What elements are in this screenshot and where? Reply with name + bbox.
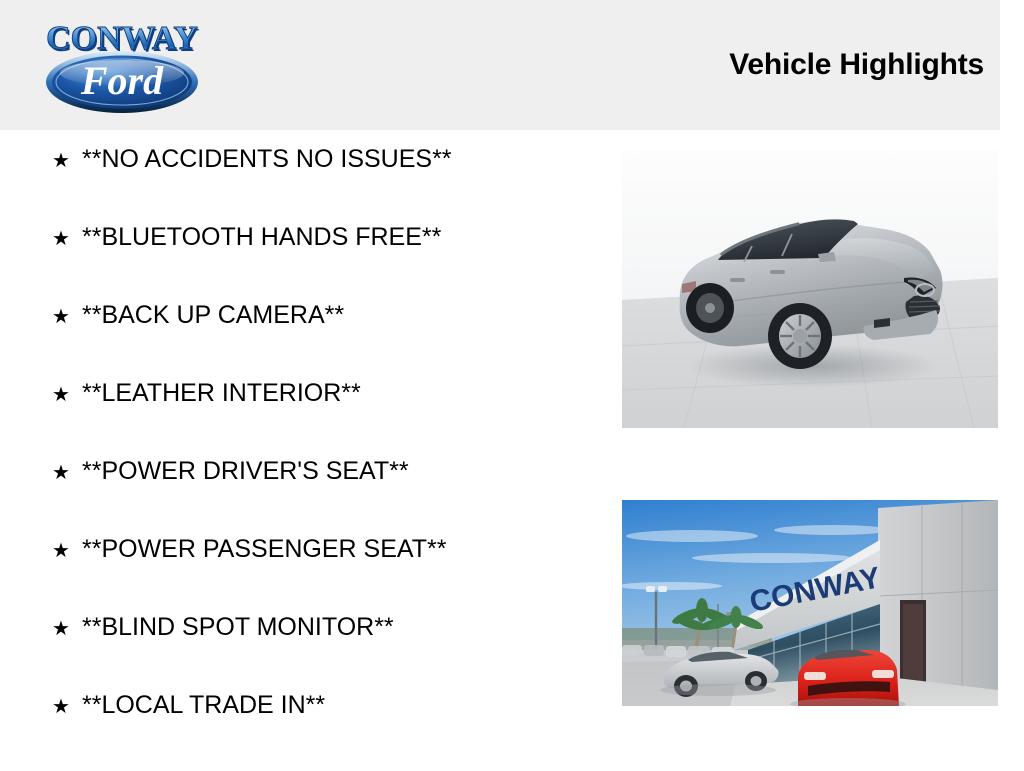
page-header: CONWAY CONWAY Ford Vehicle Highlights [0,0,1000,130]
list-item: ★ **POWER DRIVER'S SEAT** [40,459,600,537]
logo-ford-oval: Ford [46,51,198,113]
list-item-label: **POWER PASSENGER SEAT** [82,537,446,562]
star-icon: ★ [52,541,82,561]
list-item: ★ **BLIND SPOT MONITOR** [40,615,600,693]
star-icon: ★ [52,619,82,639]
list-item: ★ **LOCAL TRADE IN** [40,693,600,771]
list-item-label: **BACK UP CAMERA** [82,303,344,328]
svg-text:Ford: Ford [80,58,164,103]
list-item: ★ **LEATHER INTERIOR** [40,381,600,459]
star-icon: ★ [52,151,82,171]
star-icon: ★ [52,229,82,249]
star-icon: ★ [52,697,82,717]
star-icon: ★ [52,463,82,483]
front-wheel [768,303,832,369]
list-item: ★ **BACK UP CAMERA** [40,303,600,381]
list-item-label: **NO ACCIDENTS NO ISSUES** [82,147,452,172]
rear-wheel [686,283,734,333]
list-item-label: **BLUETOOTH HANDS FREE** [82,225,441,250]
vehicle-photo[interactable] [622,150,998,428]
list-item-label: **BLIND SPOT MONITOR** [82,615,394,640]
conway-ford-logo[interactable]: CONWAY CONWAY Ford [22,9,222,121]
page-title: Vehicle Highlights [729,48,984,82]
list-item-label: **LOCAL TRADE IN** [82,693,325,718]
star-icon: ★ [52,385,82,405]
list-item: ★ **NO ACCIDENTS NO ISSUES** [40,147,600,225]
list-item: ★ **POWER PASSENGER SEAT** [40,537,600,615]
list-item: ★ **BLUETOOTH HANDS FREE** [40,225,600,303]
red-car [798,650,899,706]
star-icon: ★ [52,307,82,327]
list-item-label: **LEATHER INTERIOR** [82,381,361,406]
vehicle-highlights-list: ★ **NO ACCIDENTS NO ISSUES** ★ **BLUETOO… [0,131,600,771]
dealership-photo[interactable]: CONWAY [622,500,998,706]
list-item-label: **POWER DRIVER'S SEAT** [82,459,409,484]
